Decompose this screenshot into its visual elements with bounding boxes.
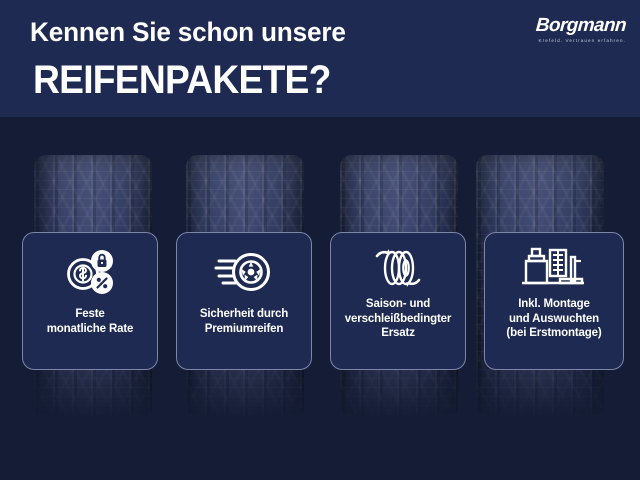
headline-line-2: REIFENPAKETE? [33,58,331,102]
feature-card-label: Sicherheit durch Premiumreifen [194,307,294,336]
tire-mounting-machine-icon [516,241,592,295]
feature-card-label: Feste monatliche Rate [41,307,140,336]
headline-line-1: Kennen Sie schon unsere [30,17,346,47]
wheel-speed-icon [213,243,275,301]
feature-card-feste-monatliche-rate[interactable]: Feste monatliche Rate [22,232,158,370]
borgmann-logo[interactable]: Borgmann Krefeld. Vertrauen erfahren. [516,16,626,50]
stacked-tires-rotation-icon [369,241,427,295]
feature-card-inkl-montage[interactable]: Inkl. Montage und Auswuchten (bei Erstmo… [484,232,624,370]
logo-brand-text: Borgmann [515,16,626,36]
feature-card-label: Inkl. Montage und Auswuchten (bei Erstmo… [500,297,607,341]
banner-header: Kennen Sie schon unsere REIFENPAKETE? Bo… [0,0,640,117]
feature-card-saison-ersatz[interactable]: Saison- und verschleißbedingter Ersatz [330,232,466,370]
logo-tagline: Krefeld. Vertrauen erfahren. [516,37,626,44]
feature-card-sicherheit-durch-premiumreifen[interactable]: Sicherheit durch Premiumreifen [176,232,312,370]
coin-lock-percent-icon [62,243,118,301]
feature-card-label: Saison- und verschleißbedingter Ersatz [339,297,457,341]
promo-banner: Kennen Sie schon unsere REIFENPAKETE? Bo… [0,0,640,480]
